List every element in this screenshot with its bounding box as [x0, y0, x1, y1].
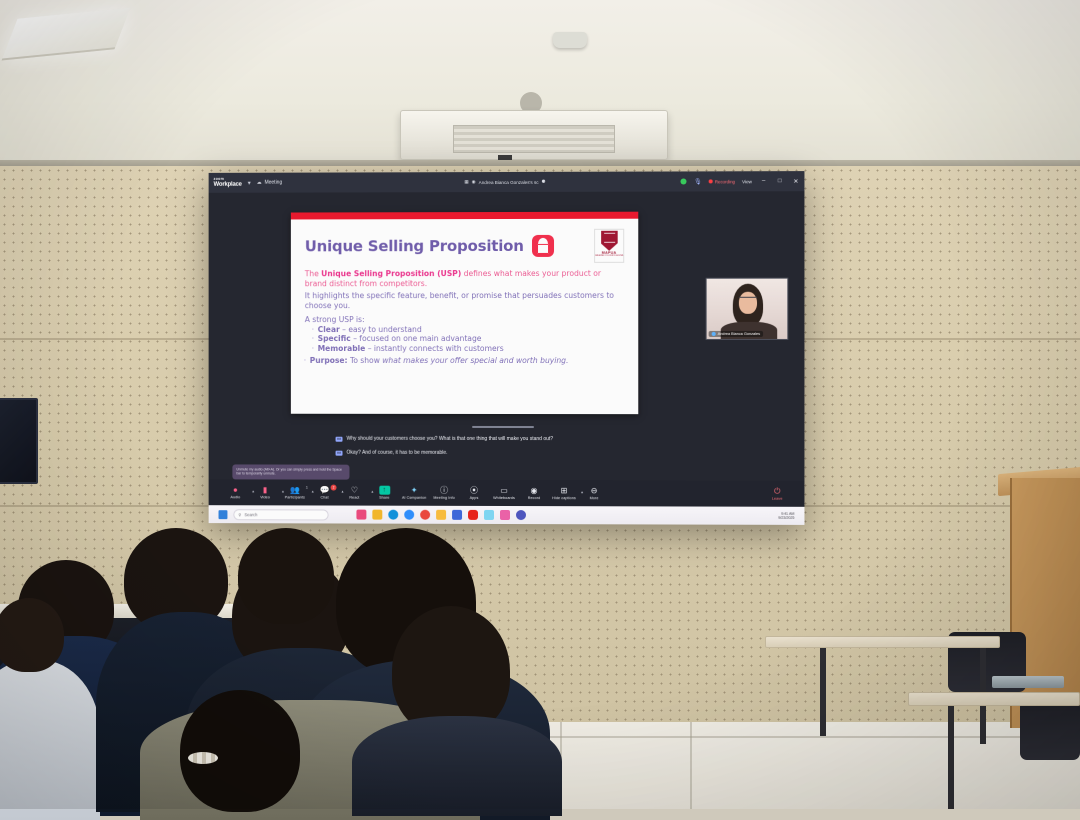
slide-paragraph-1: The Unique Selling Proposition (USP) def… — [305, 269, 624, 288]
student-head — [180, 690, 300, 812]
list-item: Specific – focused on one main advantage — [318, 334, 625, 344]
classroom-scene: zoom Workplace ▾ ☁ Meeting ▦ ◉ Andrea Bi… — [0, 0, 1080, 809]
meeting-icon: ☁ — [257, 180, 262, 186]
toolbar-share-button[interactable]: ↑ Share — [369, 486, 399, 500]
zoom-meeting-toolbar: ● Audio ▴ ▮ Video ▴ 👥 1 Participants ▴ 💬… — [209, 479, 805, 507]
avatar-face — [739, 292, 757, 314]
toolbar-chat-button[interactable]: 💬 2 Chat ▴ — [310, 486, 340, 500]
toolbar-label: Hide captions — [552, 496, 576, 500]
participant-name: Andrea Bianca Gonzales — [718, 332, 760, 336]
toolbar-label: Record — [528, 496, 541, 500]
toolbar-label: AI Companion — [402, 496, 426, 500]
sparkle-icon: ✦ — [411, 486, 418, 495]
toolbar-whiteboards-button[interactable]: ▭ Whiteboards — [489, 486, 519, 500]
whiteboard-icon: ▭ — [500, 486, 508, 495]
captions-icon: AA — [336, 437, 343, 442]
photos-icon[interactable] — [500, 510, 510, 520]
microphone-icon: ● — [233, 485, 238, 494]
slide-paragraph-2: It highlights the specific feature, bene… — [305, 291, 624, 310]
toolbar-audio-button[interactable]: ● Audio ▴ — [221, 485, 251, 499]
share-screen-icon: ↑ — [379, 486, 390, 495]
shield-icon: ◉ — [472, 179, 476, 185]
zoom-logo: zoom Workplace — [214, 178, 242, 188]
purpose-text: To show — [348, 355, 383, 364]
toolbar-apps-button[interactable]: ⦿ Apps — [459, 486, 489, 500]
toolbar-meeting-info-button[interactable]: ⓘ Meeting Info — [429, 486, 459, 500]
meeting-tab[interactable]: ☁ Meeting — [257, 180, 283, 186]
chevron-down-icon[interactable]: ▾ — [248, 179, 251, 186]
view-button[interactable]: View — [742, 179, 752, 184]
bullet-1-text: – focused on one main advantage — [351, 334, 482, 343]
network-status-icon[interactable] — [681, 178, 687, 184]
zoom-brand-main: Workplace — [214, 182, 242, 188]
toolbar-label: Apps — [470, 496, 479, 500]
toolbar-hide-captions-button[interactable]: ⊞ Hide captions ▴ — [549, 486, 579, 500]
student-desk — [765, 636, 1000, 648]
meeting-title: ▦ ◉ Andrea Bianca Gonzales's sc ⚈ — [464, 179, 545, 185]
bullet-0-text: – easy to understand — [340, 325, 422, 334]
purpose-bold: Purpose: — [310, 355, 348, 364]
toolbar-participants-button[interactable]: 👥 1 Participants ▴ — [280, 485, 310, 499]
desk-leg — [948, 706, 954, 809]
slide-body: The Unique Selling Proposition (USP) def… — [305, 269, 624, 365]
slide-bullet-list: Clear – easy to understand Specific – fo… — [318, 325, 625, 354]
slide-purpose-line: Purpose: To show what makes your offer s… — [310, 355, 624, 365]
slide-header: Unique Selling Proposition MAPUA MALAYAN… — [305, 229, 624, 264]
minimize-button[interactable]: – — [759, 178, 768, 184]
window-controls: 🎙 Recording View – □ ✕ — [681, 178, 800, 185]
para1-bold: Unique Selling Proposition (USP) — [321, 269, 461, 278]
store-icon[interactable] — [452, 510, 462, 520]
zoom-window: zoom Workplace ▾ ☁ Meeting ▦ ◉ Andrea Bi… — [209, 171, 805, 525]
live-captions: AA Why should your customers choose you?… — [336, 436, 676, 464]
para1-pre: The — [305, 269, 321, 278]
search-placeholder: Search — [244, 512, 257, 517]
toolbar-label: Leave — [772, 497, 783, 501]
laptop-on-desk — [992, 676, 1064, 688]
wall-mounted-tv — [0, 398, 38, 484]
slide-lead-in: A strong USP is: — [305, 315, 624, 325]
toolbar-video-button[interactable]: ▮ Video ▴ — [250, 485, 280, 499]
taskbar-clock[interactable]: 9:41 AM 9/23/2025 — [778, 511, 794, 520]
zoom-title-bar: zoom Workplace ▾ ☁ Meeting ▦ ◉ Andrea Bi… — [209, 171, 805, 193]
teams-icon[interactable] — [516, 510, 526, 520]
student-body — [0, 660, 100, 820]
maximize-button[interactable]: □ — [775, 178, 784, 184]
caption-line: AA Why should your customers choose you?… — [336, 436, 676, 444]
more-icon: ⊖ — [591, 486, 598, 495]
edge-icon[interactable] — [388, 510, 398, 520]
youtube-icon[interactable] — [468, 510, 478, 520]
zoom-icon[interactable] — [404, 510, 414, 520]
captions-icon: AA — [336, 450, 343, 455]
product-tag-icon — [532, 235, 554, 257]
chat-unread-badge: 2 — [331, 485, 337, 491]
bullet-0-bold: Clear — [318, 325, 340, 334]
presentation-slide: Unique Selling Proposition MAPUA MALAYAN… — [291, 212, 638, 414]
self-video-thumbnail[interactable]: Andrea Bianca Gonzales — [706, 278, 789, 340]
caption-line: AA Okay? And of course, it has to be mem… — [336, 449, 676, 457]
taskbar-app-icons — [356, 510, 526, 520]
audio-tooltip: Unmute my audio (Alt+A). Or you can simp… — [232, 464, 349, 479]
toolbar-label: Share — [379, 496, 389, 500]
toolbar-ai-companion-button[interactable]: ✦ AI Companion — [399, 486, 429, 500]
caption-divider — [472, 426, 534, 428]
toolbar-label: React — [349, 496, 359, 500]
purpose-italic: what makes your offer special and worth … — [382, 355, 568, 364]
shield-icon — [601, 231, 618, 251]
microphone-icon — [712, 332, 716, 336]
meeting-title-text: Andrea Bianca Gonzales's sc — [479, 179, 539, 184]
participant-name-label: Andrea Bianca Gonzales — [709, 331, 763, 337]
apps-icon: ⦿ — [470, 486, 478, 495]
toolbar-label: Video — [260, 495, 270, 499]
participants-count: 1 — [306, 486, 308, 490]
glasses-icon — [739, 297, 757, 302]
recording-indicator[interactable]: Recording — [709, 179, 735, 184]
toolbar-label: Meeting Info — [433, 496, 454, 500]
bullet-2-bold: Memorable — [318, 344, 366, 353]
close-button[interactable]: ✕ — [791, 178, 800, 185]
caption-text: Okay? And of course, it has to be memora… — [346, 449, 447, 457]
file-explorer-icon[interactable] — [372, 510, 382, 520]
student-head — [238, 528, 334, 624]
heart-icon: ♡ — [351, 486, 358, 495]
start-button-icon[interactable] — [219, 510, 228, 519]
captions-icon: ⊞ — [561, 486, 568, 495]
list-item: Clear – easy to understand — [318, 325, 625, 335]
toolbar-more-button[interactable]: ⊖ More — [579, 486, 609, 500]
clock-date: 9/23/2025 — [778, 516, 794, 521]
bullet-2-text: – instantly connects with customers — [365, 344, 503, 353]
widgets-icon[interactable] — [356, 510, 366, 520]
search-icon: ⚲ — [238, 512, 241, 517]
mapua-logo: MAPUA MALAYAN COLLEGES LAGUNA — [594, 229, 624, 263]
list-item: Memorable – instantly connects with cust… — [318, 344, 625, 354]
toolbar-label: Whiteboards — [493, 496, 515, 500]
toolbar-label: Chat — [321, 496, 329, 500]
caption-text: Why should your customers choose you? Wh… — [346, 436, 553, 444]
windows-taskbar: ⚲ Search 9:41 AM 9/23/2025 — [209, 505, 805, 525]
record-dot-icon — [709, 179, 713, 183]
microphone-status-icon[interactable]: 🎙 — [694, 178, 702, 185]
logo-subtitle: MALAYAN COLLEGES LAGUNA — [595, 255, 623, 257]
search-input[interactable]: ⚲ Search — [233, 509, 328, 520]
ceiling-ac-unit — [400, 110, 668, 160]
mail-icon[interactable] — [484, 510, 494, 520]
camera-icon: ▮ — [263, 485, 267, 494]
student-desk — [908, 692, 1080, 706]
chat-bubble-icon: 💬 — [320, 486, 330, 495]
toolbar-record-button[interactable]: ◉ Record — [519, 486, 549, 500]
toolbar-label: More — [590, 496, 599, 500]
record-icon: ◉ — [531, 486, 538, 495]
grid-icon: ▦ — [464, 179, 468, 185]
recording-label: Recording — [715, 179, 735, 184]
smoke-detector-icon — [553, 32, 587, 48]
projection-screen: zoom Workplace ▾ ☁ Meeting ▦ ◉ Andrea Bi… — [209, 171, 805, 525]
floor-grout-line — [690, 722, 692, 809]
minimize-title-icon[interactable]: ⚈ — [542, 179, 546, 185]
toolbar-react-button[interactable]: ♡ React ▴ — [340, 486, 370, 500]
info-icon: ⓘ — [440, 486, 448, 495]
bullet-1-bold: Specific — [318, 334, 351, 343]
student-head — [0, 598, 64, 672]
hair-scrunchie — [188, 752, 218, 764]
toolbar-label: Participants — [285, 495, 305, 499]
folder-icon[interactable] — [436, 510, 446, 520]
desk-leg — [820, 648, 826, 736]
toolbar-leave-button[interactable]: ⏻ Leave — [762, 487, 792, 501]
leave-icon: ⏻ — [774, 487, 780, 496]
chair — [1020, 700, 1080, 760]
chrome-icon[interactable] — [420, 510, 430, 520]
meeting-tab-label: Meeting — [265, 180, 283, 186]
toolbar-label: Audio — [230, 495, 240, 499]
student-body — [352, 716, 562, 816]
slide-title: Unique Selling Proposition — [305, 237, 524, 255]
people-icon: 👥 — [290, 485, 300, 494]
